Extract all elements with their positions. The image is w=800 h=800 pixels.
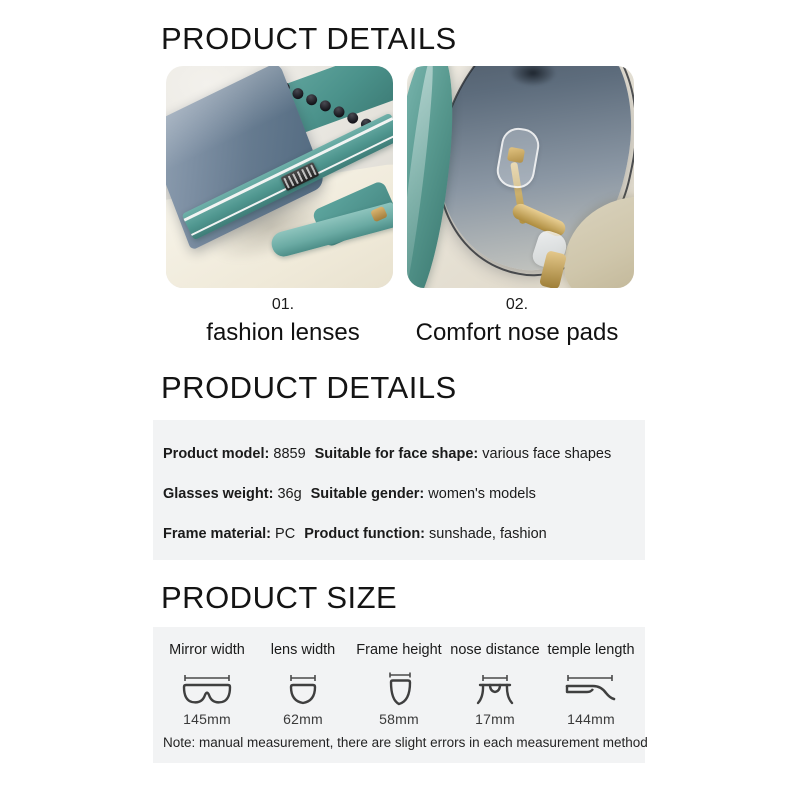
spec-row: Glasses weight: 36gSuitable gender: wome…	[163, 484, 643, 504]
spec-value: 36g	[277, 486, 301, 502]
caption-number-2: 02.	[400, 294, 634, 316]
spec-pair-right: Product function: sunshade, fashion	[304, 524, 547, 544]
product-size-panel: Mirror width lens width Frame height nos…	[153, 627, 645, 763]
spec-value: sunshade, fashion	[429, 526, 547, 542]
size-header-nose-distance: nose distance	[447, 642, 543, 658]
spec-pair-right: Suitable gender: women's models	[311, 484, 536, 504]
spec-label: Frame material:	[163, 526, 271, 542]
size-value-row: 145mm 62mm 58mm 17mm 144mm	[153, 711, 645, 727]
size-value-lens-width: 62mm	[255, 711, 351, 727]
spec-label: Suitable for face shape:	[315, 446, 479, 462]
size-icon-cell-4	[447, 669, 543, 707]
size-value-nose-distance: 17mm	[447, 711, 543, 727]
nosepad-photo-shadow	[503, 66, 563, 90]
spec-value: various face shapes	[482, 446, 611, 462]
caption-text-2: Comfort nose pads	[400, 317, 634, 349]
size-header-row: Mirror width lens width Frame height nos…	[153, 642, 645, 658]
size-icon-row	[153, 669, 645, 707]
size-icon-cell-3	[351, 669, 447, 707]
product-photo-nose-pads[interactable]	[407, 66, 634, 288]
size-icon-cell-2	[255, 669, 351, 707]
size-value-frame-height: 58mm	[351, 711, 447, 727]
product-detail-page: PRODUCT DETAILS	[0, 0, 800, 800]
spec-pair-left: Frame material: PC	[163, 524, 295, 544]
spec-label: Product function:	[304, 526, 425, 542]
spec-value: women's models	[428, 486, 536, 502]
spec-pair-right: Suitable for face shape: various face sh…	[315, 444, 612, 464]
single-lens-width-icon	[286, 673, 320, 707]
spec-row: Frame material: PCProduct function: suns…	[163, 524, 643, 544]
caption-item-2: 02. Comfort nose pads	[400, 294, 634, 349]
size-header-frame-height: Frame height	[351, 642, 447, 658]
nose-pad-screw	[507, 147, 525, 164]
caption-number-1: 01.	[166, 294, 400, 316]
size-value-temple-length: 144mm	[543, 711, 639, 727]
full-frame-icon	[180, 673, 234, 707]
spec-value: PC	[275, 526, 295, 542]
size-value-mirror-width: 145mm	[159, 711, 255, 727]
size-icon-cell-1	[159, 669, 255, 707]
size-header-temple-length: temple length	[543, 642, 639, 658]
gallery-captions: 01. fashion lenses 02. Comfort nose pads	[166, 294, 634, 349]
page-title-product-details-top: PRODUCT DETAILS	[161, 21, 457, 57]
size-icon-cell-5	[543, 669, 639, 707]
size-header-lens-width: lens width	[255, 642, 351, 658]
caption-item-1: 01. fashion lenses	[166, 294, 400, 349]
product-spec-panel: Product model: 8859Suitable for face sha…	[153, 420, 645, 560]
single-lens-height-icon	[382, 671, 416, 707]
spec-label: Suitable gender:	[311, 486, 425, 502]
spec-value: 8859	[273, 446, 305, 462]
spec-label: Product model:	[163, 446, 269, 462]
product-photo-fashion-lenses[interactable]	[166, 66, 393, 288]
size-header-mirror-width: Mirror width	[159, 642, 255, 658]
size-measurement-note: Note: manual measurement, there are slig…	[163, 735, 648, 750]
product-image-gallery	[166, 66, 634, 288]
temple-arm-icon	[563, 673, 619, 707]
page-title-product-details-mid: PRODUCT DETAILS	[161, 370, 457, 406]
spec-pair-left: Product model: 8859	[163, 444, 306, 464]
nose-bridge-icon	[473, 673, 517, 707]
spec-label: Glasses weight:	[163, 486, 273, 502]
spec-pair-left: Glasses weight: 36g	[163, 484, 302, 504]
spec-row: Product model: 8859Suitable for face sha…	[163, 444, 643, 464]
caption-text-1: fashion lenses	[166, 317, 400, 349]
page-title-product-size: PRODUCT SIZE	[161, 580, 397, 616]
